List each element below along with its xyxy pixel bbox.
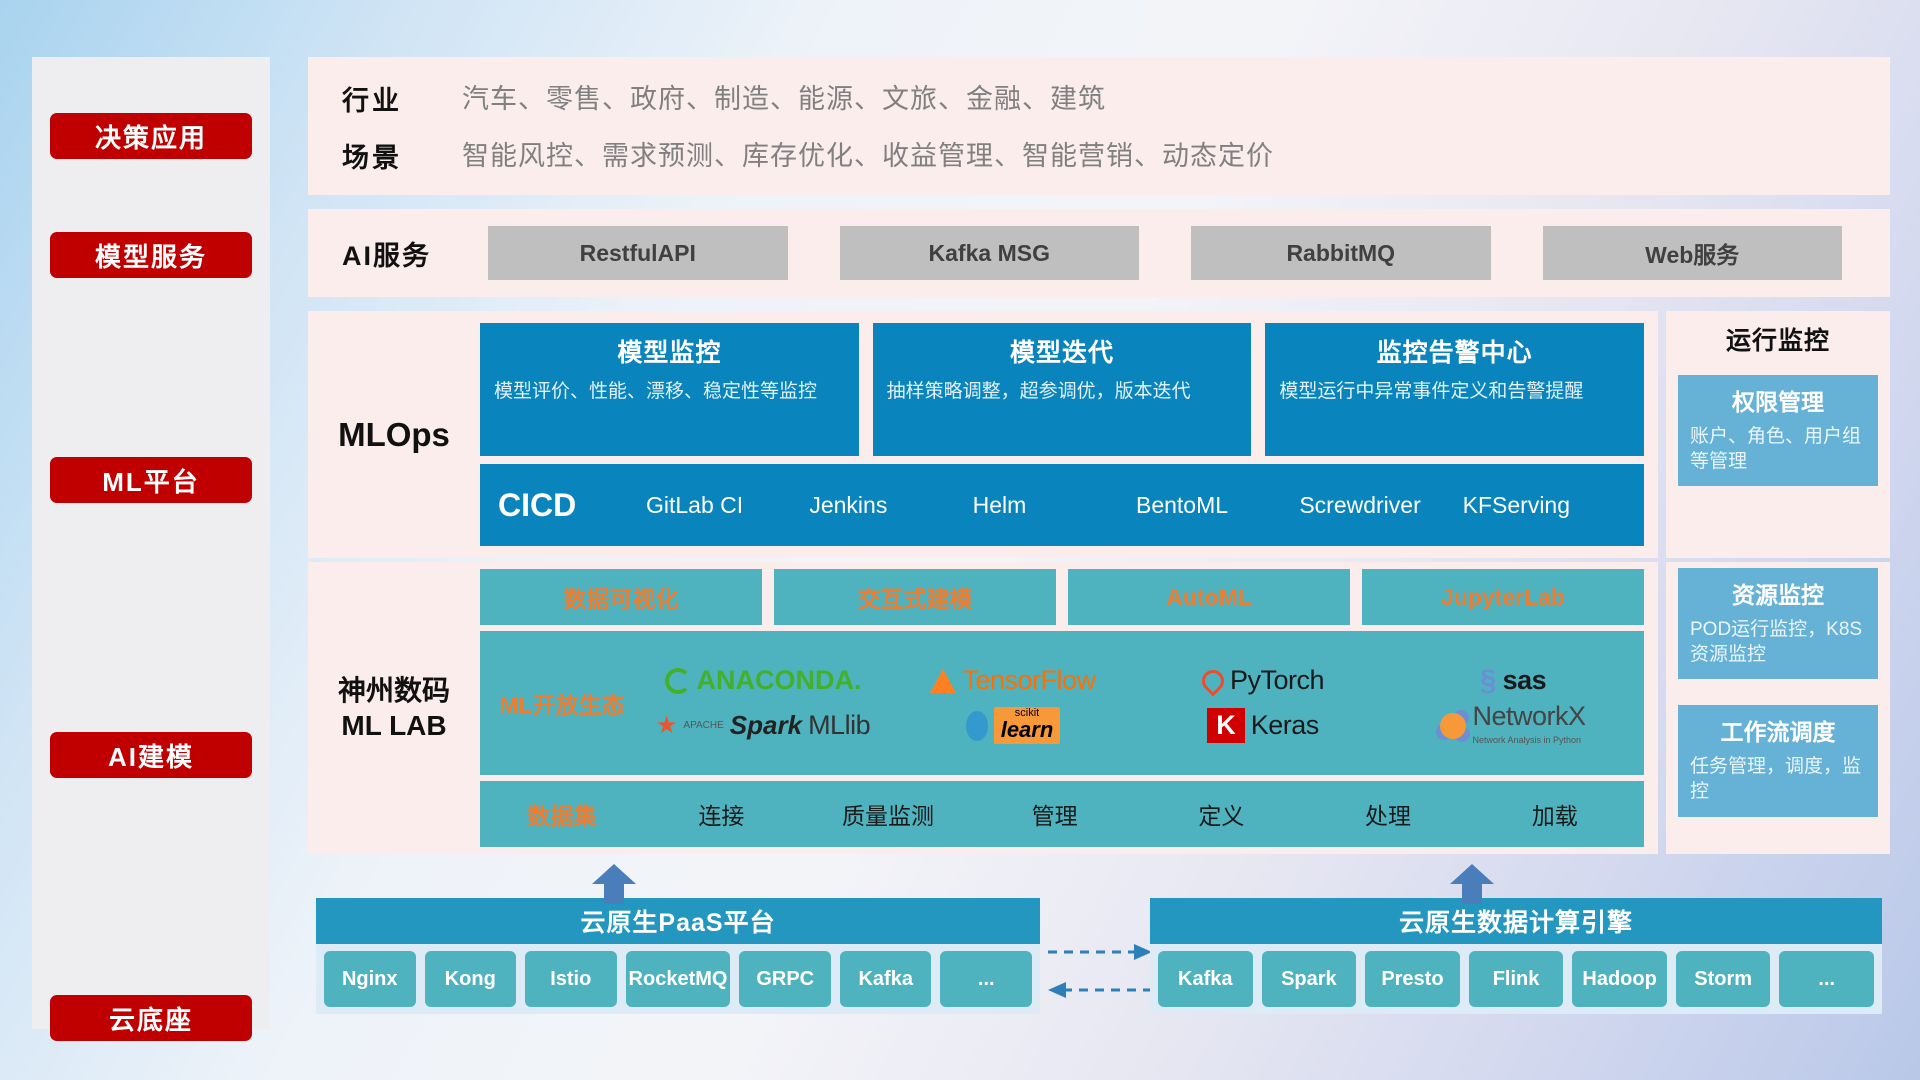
ai-service-label: AI服务 <box>342 234 462 273</box>
architecture-stack: 行业 汽车、零售、政府、制造、能源、文旅、金融、建筑 场景 智能风控、需求预测、… <box>308 57 1890 854</box>
cloud-chip-more-de[interactable]: ... <box>1779 951 1874 1007</box>
ai-chip-restfulapi[interactable]: RestfulAPI <box>488 226 788 280</box>
networkx-subtitle: Network Analysis in Python <box>1472 735 1581 745</box>
spark-wordmark: Spark <box>730 710 802 741</box>
logo-label: ANACONDA. <box>697 665 862 696</box>
ml-ecosystem-label: ML开放生态 <box>486 686 638 720</box>
card-desc: POD运行监控，K8S资源监控 <box>1690 618 1866 667</box>
mlops-card-list: 模型监控 模型评价、性能、漂移、稳定性等监控 模型迭代 抽样策略调整，超参调优，… <box>480 323 1644 456</box>
mlops-card-model-iteration[interactable]: 模型迭代 抽样策略调整，超参调优，版本迭代 <box>873 323 1252 456</box>
ai-service-band: AI服务 RestfulAPI Kafka MSG RabbitMQ Web服务 <box>308 209 1890 297</box>
cloud-data-engine-group: 云原生数据计算引擎 Kafka Spark Presto Flink Hadoo… <box>1150 898 1882 1014</box>
industry-row: 行业 汽车、零售、政府、制造、能源、文旅、金融、建筑 <box>342 77 1890 118</box>
industry-scenario-band: 行业 汽车、零售、政府、制造、能源、文旅、金融、建筑 场景 智能风控、需求预测、… <box>308 57 1890 195</box>
logo-anaconda[interactable]: ANACONDA. <box>638 665 888 696</box>
pytorch-icon <box>1197 665 1228 696</box>
monitor-card-resource[interactable]: 资源监控 POD运行监控，K8S资源监控 <box>1678 568 1878 679</box>
cicd-label: CICD <box>498 487 646 524</box>
up-arrow-icon-paas <box>592 864 636 904</box>
mlops-card-model-monitoring[interactable]: 模型监控 模型评价、性能、漂移、稳定性等监控 <box>480 323 859 456</box>
monitor-card-permission[interactable]: 权限管理 账户、角色、用户组等管理 <box>1678 375 1878 486</box>
scenario-list: 智能风控、需求预测、库存优化、收益管理、智能营销、动态定价 <box>462 134 1274 173</box>
dataset-label: 数据集 <box>486 797 638 831</box>
logo-pytorch[interactable]: PyTorch <box>1138 665 1388 696</box>
cicd-item-kfserving[interactable]: KFServing <box>1463 492 1626 518</box>
logo-label: PyTorch <box>1230 665 1324 696</box>
lab-tool-data-visualization[interactable]: 数据可视化 <box>480 569 762 625</box>
lab-tool-jupyterlab[interactable]: JupyterLab <box>1362 569 1644 625</box>
dataset-item-list: 连接 质量监测 管理 定义 处理 加载 <box>638 797 1638 831</box>
ai-chip-kafka-msg[interactable]: Kafka MSG <box>840 226 1140 280</box>
logo-sas[interactable]: § sas <box>1388 664 1638 698</box>
cloud-chip-kafka[interactable]: Kafka <box>840 951 932 1007</box>
ml-ecosystem-row: ML开放生态 ANACONDA. TensorFlow PyTorc <box>480 631 1644 775</box>
ml-lab-label: 神州数码 ML LAB <box>308 673 480 743</box>
logo-label: TensorFlow <box>962 665 1095 696</box>
cloud-chip-rocketmq[interactable]: RocketMQ <box>626 951 731 1007</box>
card-desc: 模型运行中异常事件定义和告警提醒 <box>1279 379 1630 405</box>
cloud-chip-grpc[interactable]: GRPC <box>739 951 831 1007</box>
logo-tensorflow[interactable]: TensorFlow <box>888 665 1138 696</box>
ml-lab-label-line2: ML LAB <box>308 708 480 743</box>
runtime-monitor-panel: 运行监控 权限管理 账户、角色、用户组等管理 <box>1666 311 1890 558</box>
cloud-chip-istio[interactable]: Istio <box>525 951 617 1007</box>
runtime-monitor-panel-lower: 资源监控 POD运行监控，K8S资源监控 工作流调度 任务管理，调度，监控 <box>1666 562 1890 854</box>
networkx-text: NetworkX Network Analysis in Python <box>1472 703 1585 748</box>
mlops-content: 模型监控 模型评价、性能、漂移、稳定性等监控 模型迭代 抽样策略调整，超参调优，… <box>480 323 1658 546</box>
scikit-badge: scikit learn <box>994 707 1061 744</box>
logo-networkx[interactable]: NetworkX Network Analysis in Python <box>1388 703 1638 748</box>
scikit-learn-icon <box>966 711 988 741</box>
industry-label: 行业 <box>342 77 462 118</box>
cicd-item-screwdriver[interactable]: Screwdriver <box>1299 492 1462 518</box>
card-title: 工作流调度 <box>1690 713 1866 747</box>
card-title: 资源监控 <box>1690 576 1866 610</box>
ml-lab-band: 神州数码 ML LAB 数据可视化 交互式建模 AutoML JupyterLa… <box>308 562 1658 854</box>
cicd-item-gitlab-ci[interactable]: GitLab CI <box>646 492 809 518</box>
logo-label: NetworkX <box>1472 703 1585 730</box>
logo-label: Keras <box>1251 710 1319 741</box>
cloud-chip-hadoop[interactable]: Hadoop <box>1572 951 1667 1007</box>
card-desc: 抽样策略调整，超参调优，版本迭代 <box>887 379 1238 405</box>
runtime-monitor-title: 运行监控 <box>1678 321 1878 357</box>
dataset-item-quality-monitoring[interactable]: 质量监测 <box>805 797 972 831</box>
dataset-row: 数据集 连接 质量监测 管理 定义 处理 加载 <box>480 781 1644 847</box>
card-title: 模型监控 <box>494 333 845 369</box>
ai-chip-web-service[interactable]: Web服务 <box>1543 226 1843 280</box>
cloud-data-engine-chip-list: Kafka Spark Presto Flink Hadoop Storm ..… <box>1150 944 1882 1014</box>
cloud-paas-title: 云原生PaaS平台 <box>316 898 1040 944</box>
tensorflow-icon <box>930 669 956 693</box>
logo-spark-mllib[interactable]: ★ APACHE Spark MLlib <box>638 710 888 741</box>
logo-scikit-learn[interactable]: scikit learn <box>888 707 1138 744</box>
logo-label: learn <box>1001 717 1054 742</box>
cloud-chip-storm[interactable]: Storm <box>1676 951 1771 1007</box>
logo-keras[interactable]: K Keras <box>1138 708 1388 743</box>
rail-chip-ml-platform[interactable]: ML平台 <box>50 457 252 503</box>
scenario-row: 场景 智能风控、需求预测、库存优化、收益管理、智能营销、动态定价 <box>342 134 1890 175</box>
mlops-label: MLOps <box>308 416 480 454</box>
cloud-paas-chip-list: Nginx Kong Istio RocketMQ GRPC Kafka ... <box>316 944 1040 1014</box>
cloud-chip-kafka-de[interactable]: Kafka <box>1158 951 1253 1007</box>
rail-chip-ai-modeling[interactable]: AI建模 <box>50 732 252 778</box>
scenario-label: 场景 <box>342 134 462 175</box>
cloud-chip-spark[interactable]: Spark <box>1262 951 1357 1007</box>
ml-ecosystem-logo-grid: ANACONDA. TensorFlow PyTorch § sa <box>638 658 1638 748</box>
card-desc: 账户、角色、用户组等管理 <box>1690 425 1866 474</box>
card-title: 监控告警中心 <box>1279 333 1630 369</box>
up-arrow-icon-data-engine <box>1450 864 1494 904</box>
logo-label: MLlib <box>808 710 870 741</box>
monitor-card-workflow-scheduling[interactable]: 工作流调度 任务管理，调度，监控 <box>1678 705 1878 816</box>
rail-chip-decision-app[interactable]: 决策应用 <box>50 113 252 159</box>
anaconda-icon <box>665 668 691 694</box>
cicd-bar: CICD GitLab CI Jenkins Helm BentoML Scre… <box>480 464 1644 546</box>
spark-apache-label: APACHE <box>683 720 723 731</box>
card-title: 权限管理 <box>1690 383 1866 417</box>
cicd-item-helm[interactable]: Helm <box>973 492 1136 518</box>
cloud-data-engine-title: 云原生数据计算引擎 <box>1150 898 1882 944</box>
ml-lab-label-line1: 神州数码 <box>308 673 480 708</box>
ml-lab-content: 数据可视化 交互式建模 AutoML JupyterLab ML开放生态 ANA… <box>480 569 1658 847</box>
cloud-chip-presto[interactable]: Presto <box>1365 951 1460 1007</box>
rail-chip-cloud-base[interactable]: 云底座 <box>50 995 252 1041</box>
cloud-chip-nginx[interactable]: Nginx <box>324 951 416 1007</box>
card-desc: 模型评价、性能、漂移、稳定性等监控 <box>494 379 845 405</box>
dataset-item-define[interactable]: 定义 <box>1138 797 1305 831</box>
ml-lab-tool-list: 数据可视化 交互式建模 AutoML JupyterLab <box>480 569 1644 625</box>
cicd-item-list: GitLab CI Jenkins Helm BentoML Screwdriv… <box>646 492 1626 518</box>
cloud-paas-group: 云原生PaaS平台 Nginx Kong Istio RocketMQ GRPC… <box>316 898 1040 1014</box>
rail-chip-model-service[interactable]: 模型服务 <box>50 232 252 278</box>
mlops-row: MLOps 模型监控 模型评价、性能、漂移、稳定性等监控 模型迭代 抽样策略调整… <box>308 311 1890 558</box>
mlops-card-alert-center[interactable]: 监控告警中心 模型运行中异常事件定义和告警提醒 <box>1265 323 1644 456</box>
layer-rail: 决策应用 模型服务 ML平台 AI建模 云底座 <box>32 57 270 1029</box>
dataset-item-manage[interactable]: 管理 <box>971 797 1138 831</box>
mlops-band: MLOps 模型监控 模型评价、性能、漂移、稳定性等监控 模型迭代 抽样策略调整… <box>308 311 1658 558</box>
sas-icon: § <box>1480 664 1497 698</box>
cloud-foundation-row: 云原生PaaS平台 Nginx Kong Istio RocketMQ GRPC… <box>308 862 1890 1042</box>
logo-label: sas <box>1503 665 1547 696</box>
card-desc: 任务管理，调度，监控 <box>1690 755 1866 804</box>
lab-tool-interactive-modeling[interactable]: 交互式建模 <box>774 569 1056 625</box>
keras-icon: K <box>1207 708 1245 743</box>
cloud-chip-more[interactable]: ... <box>940 951 1032 1007</box>
industry-list: 汽车、零售、政府、制造、能源、文旅、金融、建筑 <box>462 77 1106 116</box>
ai-chip-rabbitmq[interactable]: RabbitMQ <box>1191 226 1491 280</box>
networkx-icon <box>1440 713 1466 739</box>
card-title: 模型迭代 <box>887 333 1238 369</box>
dataset-item-load[interactable]: 加载 <box>1471 797 1638 831</box>
cicd-item-bentoml[interactable]: BentoML <box>1136 492 1299 518</box>
cloud-chip-kong[interactable]: Kong <box>425 951 517 1007</box>
lab-tool-automl[interactable]: AutoML <box>1068 569 1350 625</box>
bidirectional-dashed-link <box>1046 940 1154 1002</box>
dataset-item-connect[interactable]: 连接 <box>638 797 805 831</box>
cicd-item-jenkins[interactable]: Jenkins <box>809 492 972 518</box>
cloud-chip-flink[interactable]: Flink <box>1469 951 1564 1007</box>
ai-service-chip-list: RestfulAPI Kafka MSG RabbitMQ Web服务 <box>462 226 1890 280</box>
ml-lab-row: 神州数码 ML LAB 数据可视化 交互式建模 AutoML JupyterLa… <box>308 562 1890 854</box>
spark-icon: ★ <box>656 711 678 740</box>
dataset-item-process[interactable]: 处理 <box>1305 797 1472 831</box>
